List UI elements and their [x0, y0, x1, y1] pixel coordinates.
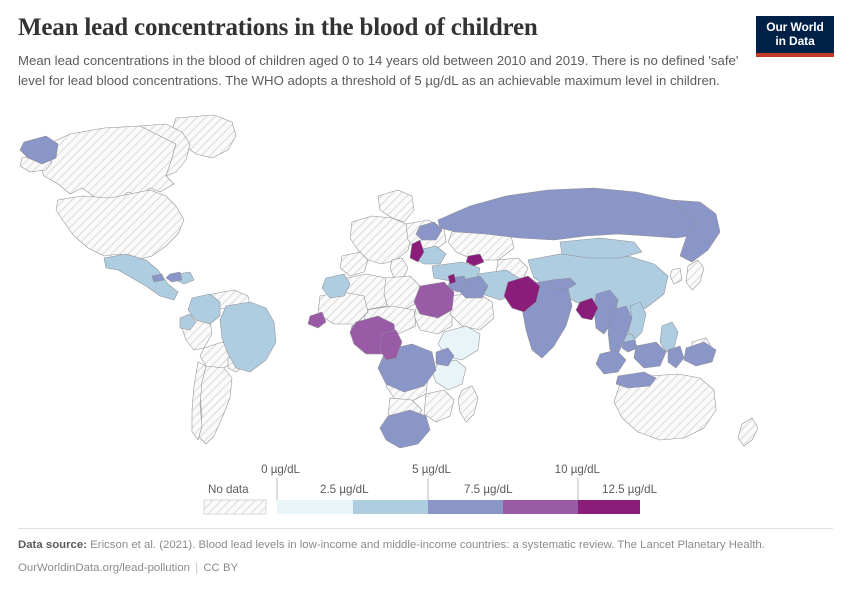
chart-footer: Data source: Ericson et al. (2021). Bloo… [18, 528, 833, 576]
country-indonesia-sumatra[interactable] [596, 350, 626, 374]
legend-tick-label-0: 0 µg/dL [261, 463, 300, 476]
footer-separator: | [193, 562, 200, 574]
legend-bin-label-2: 12.5 µg/dL [602, 483, 658, 496]
map-legend[interactable]: 0 µg/dL 5 µg/dL 10 µg/dL No data 2.5 µg/… [0, 458, 850, 520]
legend-bin-label-1: 7.5 µg/dL [464, 483, 513, 496]
owid-logo[interactable]: Our World in Data [756, 16, 834, 57]
license-label[interactable]: CC BY [203, 562, 238, 574]
data-source-text: Ericson et al. (2021). Blood lead levels… [90, 539, 765, 551]
owid-logo-line-2: in Data [756, 34, 834, 48]
country-indonesia-sulawesi[interactable] [668, 346, 684, 368]
country-russia[interactable] [438, 188, 712, 240]
page-title: Mean lead concentrations in the blood of… [18, 14, 758, 42]
legend-swatch-bin-1[interactable] [353, 500, 428, 514]
country-canada[interactable] [38, 126, 180, 200]
legend-swatch-bin-0[interactable] [277, 500, 353, 514]
legend-tick-label-2: 10 µg/dL [555, 463, 601, 476]
country-egypt[interactable] [414, 282, 454, 318]
country-south-africa[interactable] [380, 410, 430, 448]
legend-swatch-no-data[interactable] [204, 500, 266, 514]
country-libya[interactable] [384, 276, 420, 310]
data-source-line: Data source: Ericson et al. (2021). Bloo… [18, 537, 833, 553]
country-papua-new-guinea[interactable] [684, 342, 716, 366]
legend-tick-label-1: 5 µg/dL [412, 463, 451, 476]
country-korea[interactable] [670, 268, 682, 284]
owid-logo-line-1: Our World [756, 20, 834, 34]
legend-swatch-bin-4[interactable] [578, 500, 640, 514]
country-iberia[interactable] [340, 252, 368, 276]
legend-no-data-label: No data [208, 483, 249, 496]
chart-header: Mean lead concentrations in the blood of… [0, 0, 850, 90]
chart-subtitle: Mean lead concentrations in the blood of… [18, 51, 746, 90]
country-haiti[interactable] [166, 272, 182, 282]
country-mali-mauritania[interactable] [318, 292, 368, 324]
country-new-zealand[interactable] [738, 418, 758, 446]
footer-link-line: OurWorldinData.org/lead-pollution | CC B… [18, 560, 833, 576]
legend-svg[interactable]: 0 µg/dL 5 µg/dL 10 µg/dL No data 2.5 µg/… [0, 458, 850, 520]
country-indonesia-borneo[interactable] [634, 342, 666, 368]
choropleth-map[interactable] [0, 110, 850, 458]
country-united-states[interactable] [56, 190, 184, 260]
country-indonesia-java[interactable] [616, 372, 656, 388]
world-map-svg[interactable] [0, 110, 850, 458]
owid-url[interactable]: OurWorldinData.org/lead-pollution [18, 562, 190, 574]
legend-swatch-bin-2[interactable] [428, 500, 503, 514]
legend-swatch-bin-3[interactable] [503, 500, 578, 514]
country-zimbabwe-mozambique[interactable] [424, 390, 454, 422]
country-mongolia[interactable] [560, 238, 642, 258]
country-madagascar[interactable] [458, 386, 478, 422]
country-japan[interactable] [686, 260, 704, 290]
footer-divider [18, 528, 833, 529]
data-source-label: Data source: [18, 539, 87, 551]
legend-bin-label-0: 2.5 µg/dL [320, 483, 369, 496]
